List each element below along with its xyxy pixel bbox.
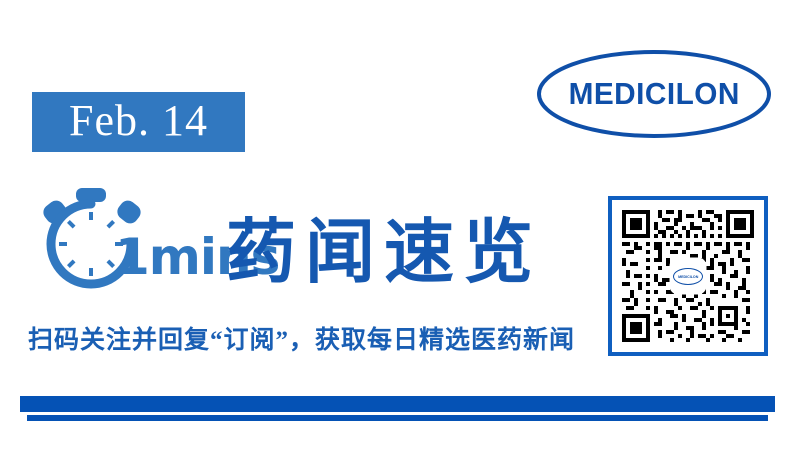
footer-bar-thick	[20, 396, 775, 412]
qr-center-logo-text: MEDICILON	[678, 274, 698, 279]
logo-dial-number: 1	[115, 228, 149, 286]
page-title: 药闻速览	[226, 216, 542, 292]
medicilon-wordmark-text: MEDICILON	[568, 76, 739, 112]
poster-canvas: Feb. 14 MEDICILON	[0, 0, 800, 468]
qr-center-logo: MEDICILON	[671, 259, 705, 293]
date-badge-label: Feb. 14	[69, 99, 208, 146]
subtitle-text: 扫码关注并回复“订阅”，获取每日精选医药新闻	[28, 326, 575, 356]
qr-code[interactable]: MEDICILON	[608, 196, 768, 356]
footer-bar-thin	[27, 415, 768, 421]
medicilon-logo: MEDICILON	[535, 48, 773, 140]
date-badge: Feb. 14	[32, 92, 245, 152]
medicilon-wordmark: MEDICILON	[535, 48, 773, 140]
qr-center-logo-ellipse-icon: MEDICILON	[673, 268, 703, 285]
